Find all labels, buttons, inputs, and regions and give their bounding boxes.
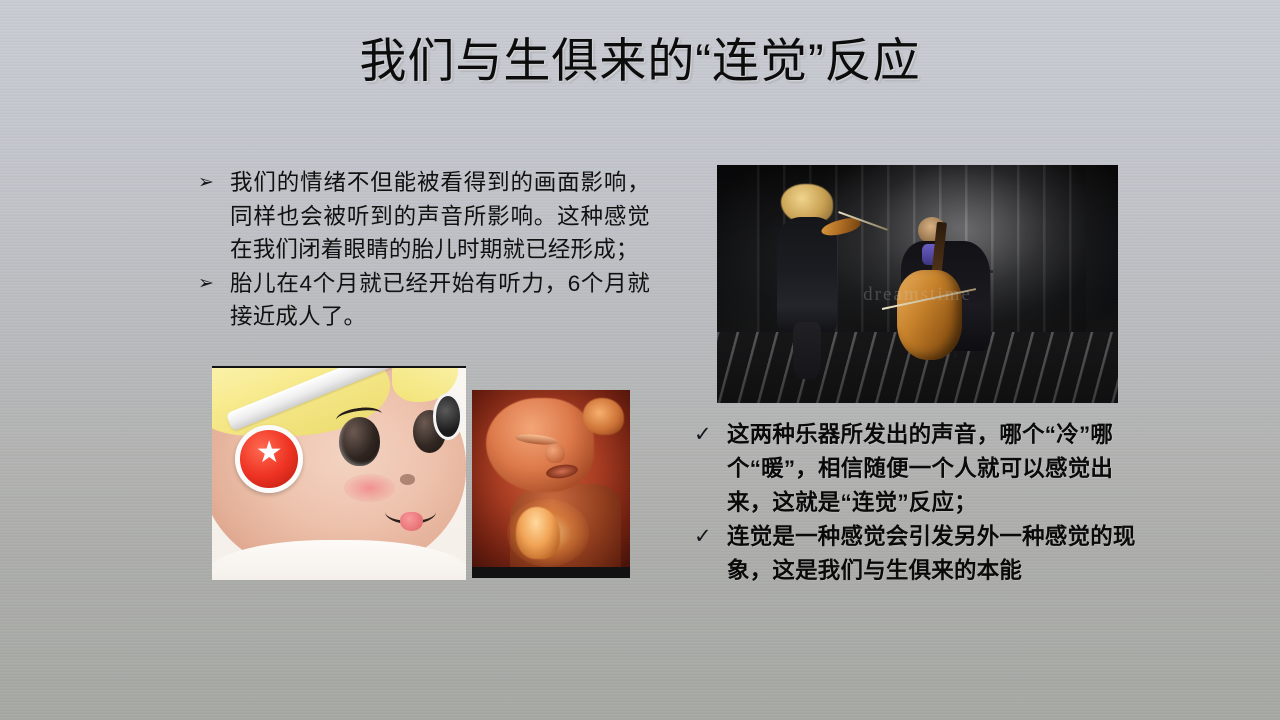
doll-nose [400,474,415,485]
fetus-hand-upper [583,398,624,436]
left-bullet-text-1: 我们的情绪不但能被看得到的画面影响，同样也会被听到的声音所影响。这种感觉在我们闭… [230,166,650,267]
page-title: 我们与生俱来的“连觉”反应 [0,34,1280,88]
right-bullet-list: ✓ 这两种乐器所发出的声音，哪个“冷”哪个“暖”，相信随便一个人就可以感觉出来，… [694,418,1144,588]
fetus-nose [545,443,566,464]
violinist-legs [793,322,821,379]
fetus-photo-footer [472,567,630,578]
fetus-photo [472,390,630,578]
list-item: ✓ 连觉是一种感觉会引发另外一种感觉的现象，这是我们与生俱来的本能 [694,520,1144,588]
list-item: ➢ 胎儿在4个月就已经开始有听力，6个月就接近成人了。 [198,267,650,334]
list-item: ➢ 我们的情绪不但能被看得到的画面影响，同样也会被听到的声音所影响。这种感觉在我… [198,166,650,267]
right-bullet-text-2: 连觉是一种感觉会引发另外一种感觉的现象，这是我们与生俱来的本能 [727,520,1144,588]
arrow-bullet-icon: ➢ [198,166,230,200]
photo-watermark: dreamstime [805,284,1030,306]
star-icon: ★ [250,438,288,470]
arrow-bullet-icon: ➢ [198,267,230,301]
check-bullet-icon: ✓ [694,418,727,452]
left-bullet-list: ➢ 我们的情绪不但能被看得到的画面影响，同样也会被听到的声音所影响。这种感觉在我… [198,166,650,334]
left-bullet-text-2: 胎儿在4个月就已经开始有听力，6个月就接近成人了。 [230,267,650,334]
doll-tongue [400,512,423,531]
check-bullet-icon: ✓ [694,520,727,554]
musicians-photo: dreamstime [717,165,1118,403]
right-bullet-text-1: 这两种乐器所发出的声音，哪个“冷”哪个“暖”，相信随便一个人就可以感觉出来，这就… [727,418,1144,520]
fetus-head [486,398,593,492]
doll-belly-photo: ★ [212,366,466,580]
list-item: ✓ 这两种乐器所发出的声音，哪个“冷”哪个“暖”，相信随便一个人就可以感觉出来，… [694,418,1144,520]
slide-canvas: 我们与生俱来的“连觉”反应 ➢ 我们的情绪不但能被看得到的画面影响，同样也会被听… [0,0,1280,720]
doll-blush [344,474,395,502]
